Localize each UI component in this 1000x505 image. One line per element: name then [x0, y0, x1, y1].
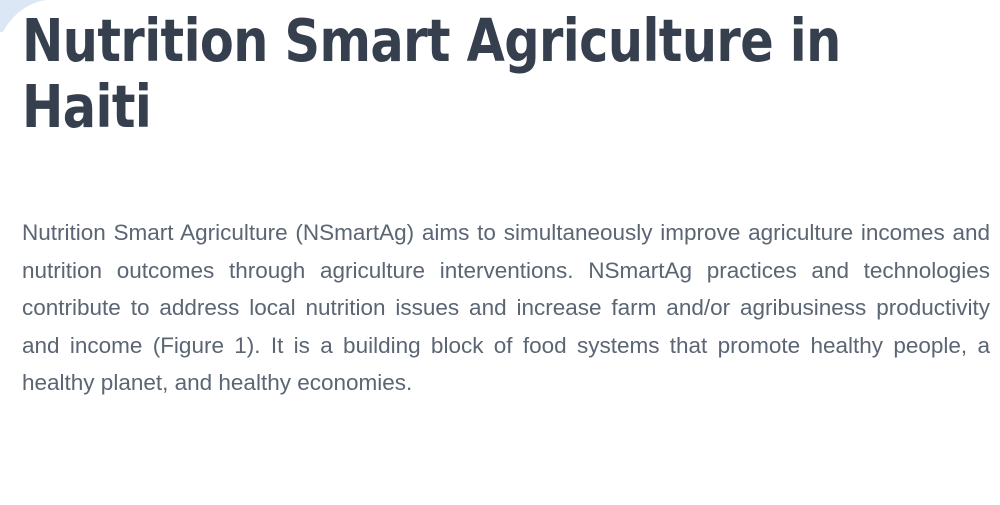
document-page: Nutrition Smart Agriculture in Haiti Nut… [0, 0, 1000, 505]
document-content: Nutrition Smart Agriculture in Haiti Nut… [22, 0, 990, 140]
page-title: Nutrition Smart Agriculture in Haiti [22, 0, 896, 140]
intro-paragraph: Nutrition Smart Agriculture (NSmartAg) a… [22, 214, 990, 402]
